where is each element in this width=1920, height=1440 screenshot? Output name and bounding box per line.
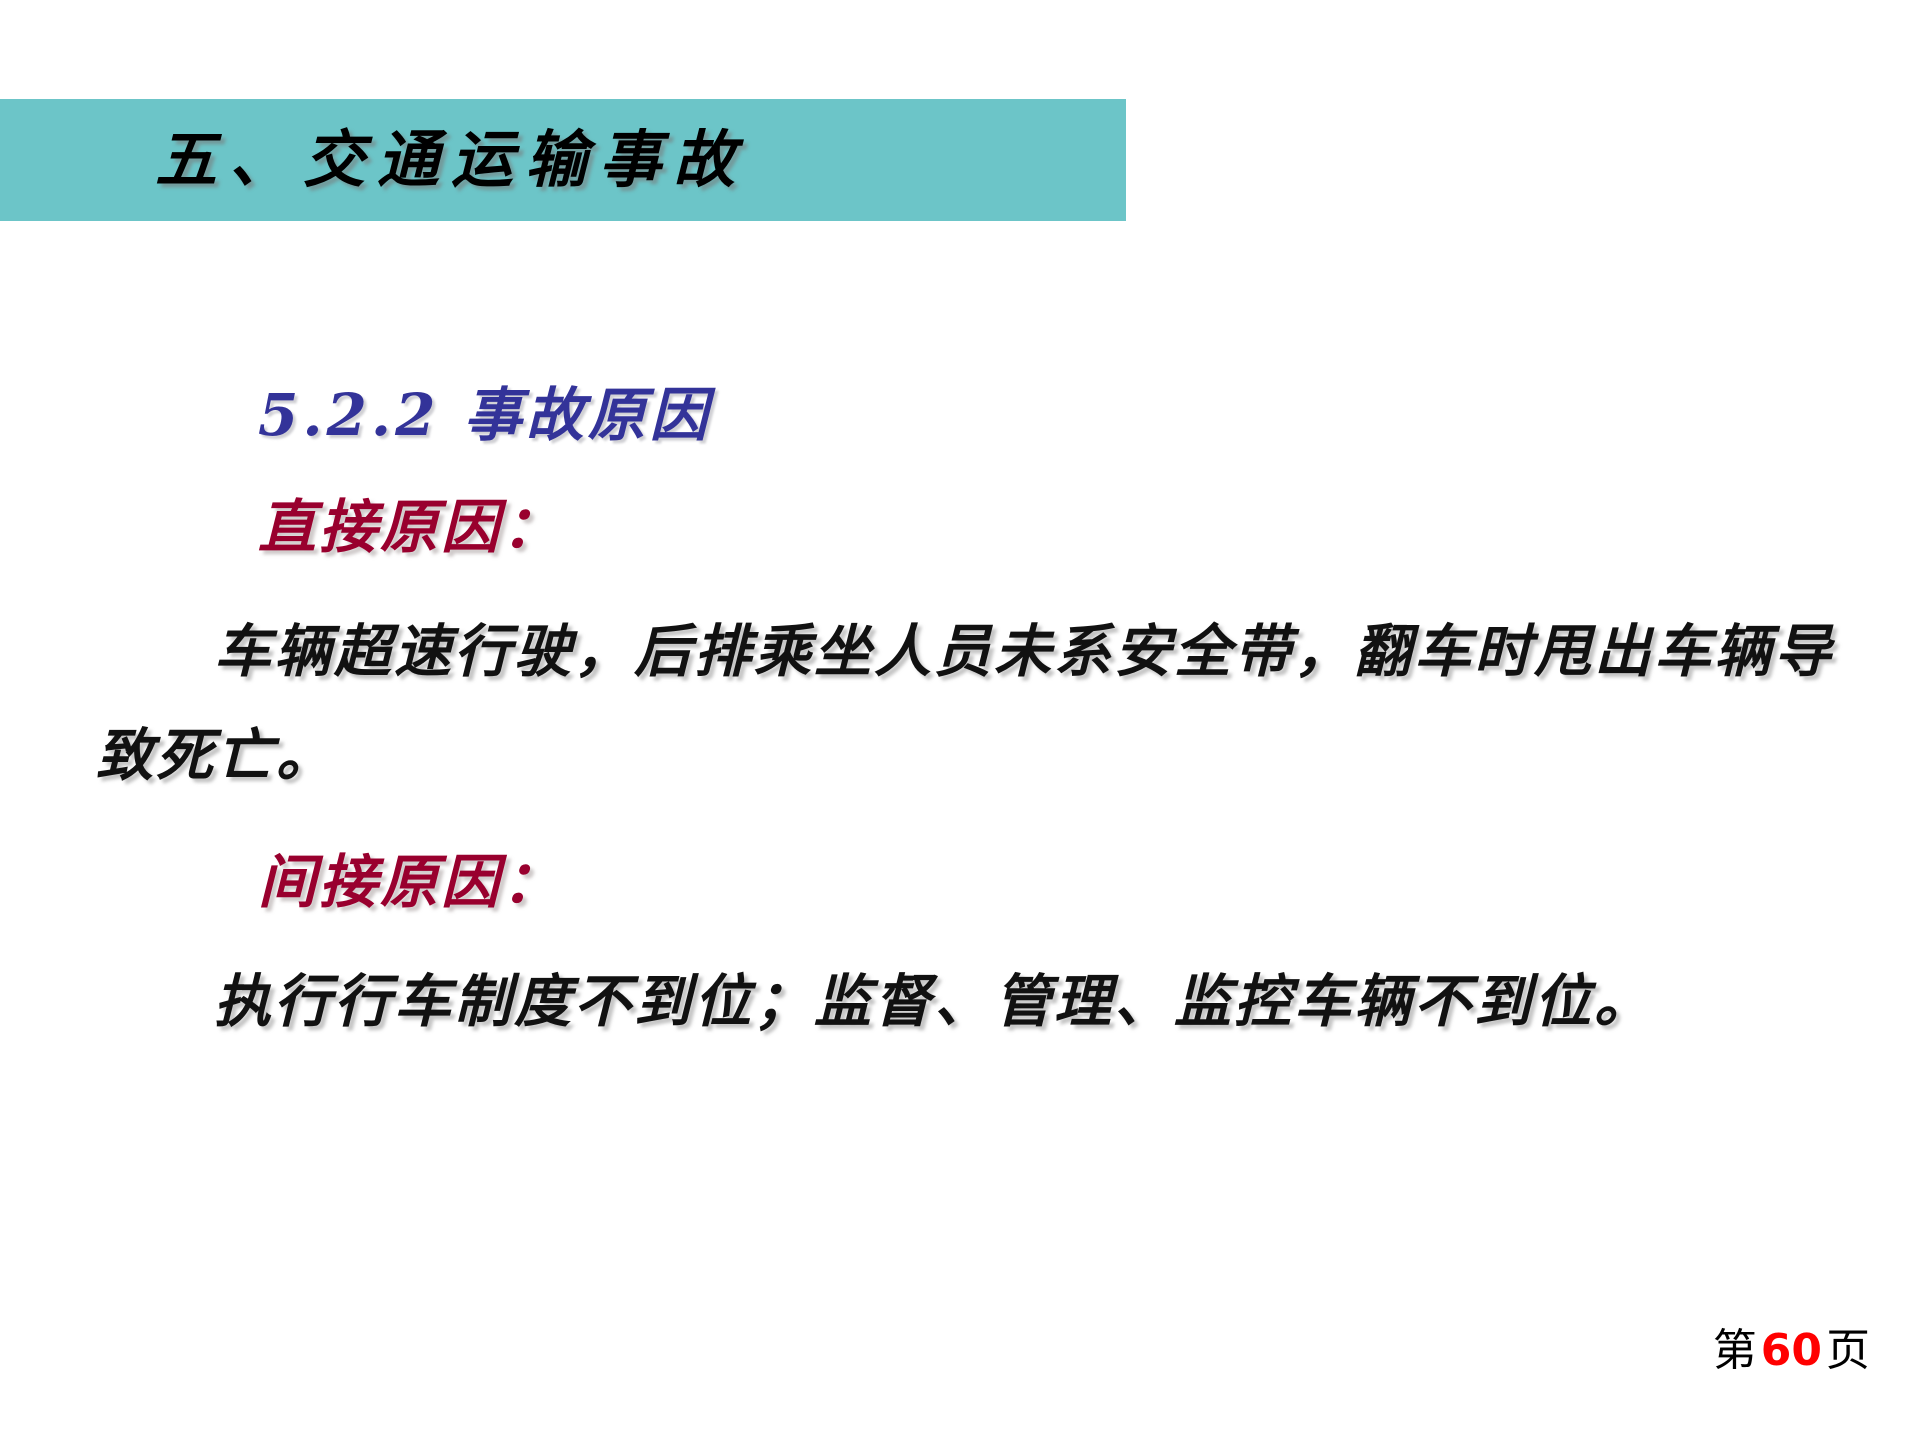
indirect-cause-label: 间接原因： (258, 845, 563, 919)
page-number: 60 (1757, 1325, 1826, 1376)
direct-cause-label: 直接原因： (258, 490, 563, 564)
page-footer-suffix: 页 (1826, 1325, 1870, 1376)
section-heading: 5.2.2 事故原因 (258, 378, 712, 452)
page-footer: 第60页 (1713, 1323, 1870, 1379)
indirect-cause-paragraph: 执行行车制度不到位；监督、管理、监控车辆不到位。 (96, 950, 1886, 1054)
page-footer-prefix: 第 (1713, 1325, 1757, 1376)
slide-canvas: 五、交通运输事故 5.2.2 事故原因 直接原因： 车辆超速行驶，后排乘坐人员未… (0, 0, 1920, 1440)
page-title: 五、交通运输事故 (155, 112, 747, 208)
direct-cause-paragraph: 车辆超速行驶，后排乘坐人员未系安全带，翻车时甩出车辆导致死亡。 (96, 600, 1886, 808)
